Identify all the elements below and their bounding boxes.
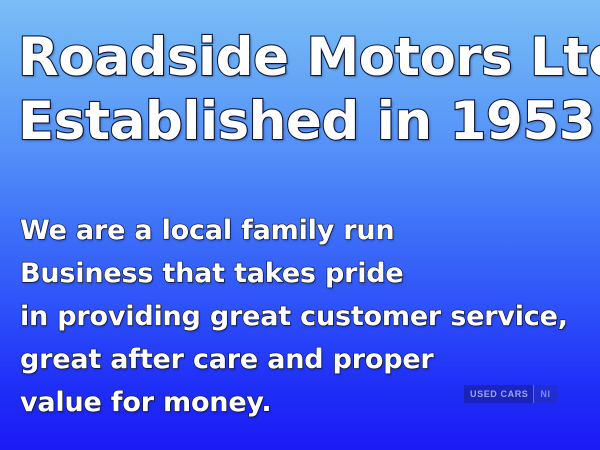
headline-block: Roadside Motors Ltd Established in 1953 (18, 26, 586, 154)
body-line-4: great after care and proper (20, 338, 586, 381)
watermark-main: USED CARS (464, 385, 533, 403)
body-line-2: Business that takes pride (20, 252, 586, 295)
body-line-1: We are a local family run (20, 209, 586, 252)
headline-line-1: Roadside Motors Ltd (18, 26, 586, 90)
watermark-tag-label: NI (540, 390, 550, 399)
watermark-tag: NI (534, 385, 556, 403)
watermark-badge: USED CARS NI (464, 385, 557, 403)
body-line-3: in providing great customer service, (20, 295, 586, 338)
watermark-main-label: USED CARS (470, 390, 528, 399)
advert-poster: Roadside Motors Ltd Established in 1953 … (0, 0, 600, 450)
headline-line-2: Established in 1953 (18, 90, 586, 154)
